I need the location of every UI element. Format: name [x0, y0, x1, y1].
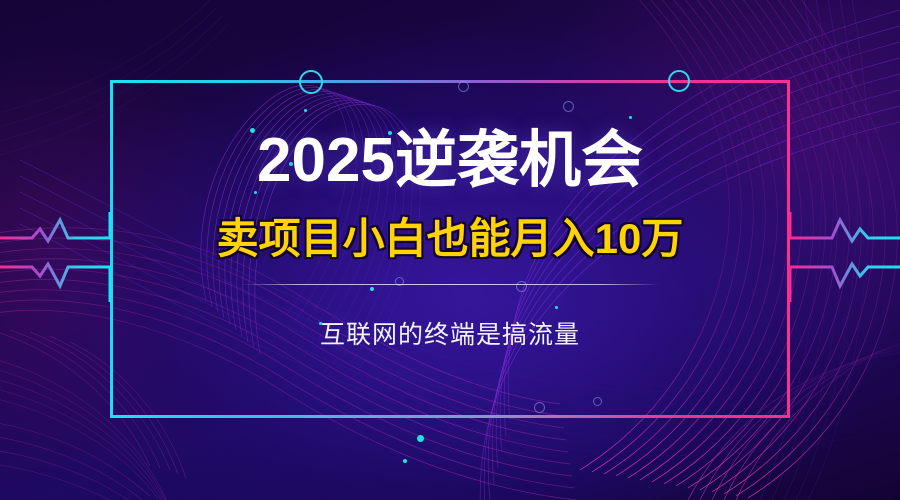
- poster-tagline: 互联网的终端是搞流量: [320, 323, 580, 348]
- promo-poster: 2025逆袭机会 卖项目小白也能月入10万 互联网的终端是搞流量: [0, 0, 900, 500]
- accent-dot: [403, 459, 407, 463]
- poster-text-block: 2025逆袭机会 卖项目小白也能月入10万 互联网的终端是搞流量: [110, 80, 790, 418]
- horizontal-divider: [240, 284, 660, 285]
- poster-title: 2025逆袭机会: [257, 130, 643, 192]
- accent-dot: [417, 435, 424, 442]
- poster-subtitle: 卖项目小白也能月入10万: [217, 218, 684, 260]
